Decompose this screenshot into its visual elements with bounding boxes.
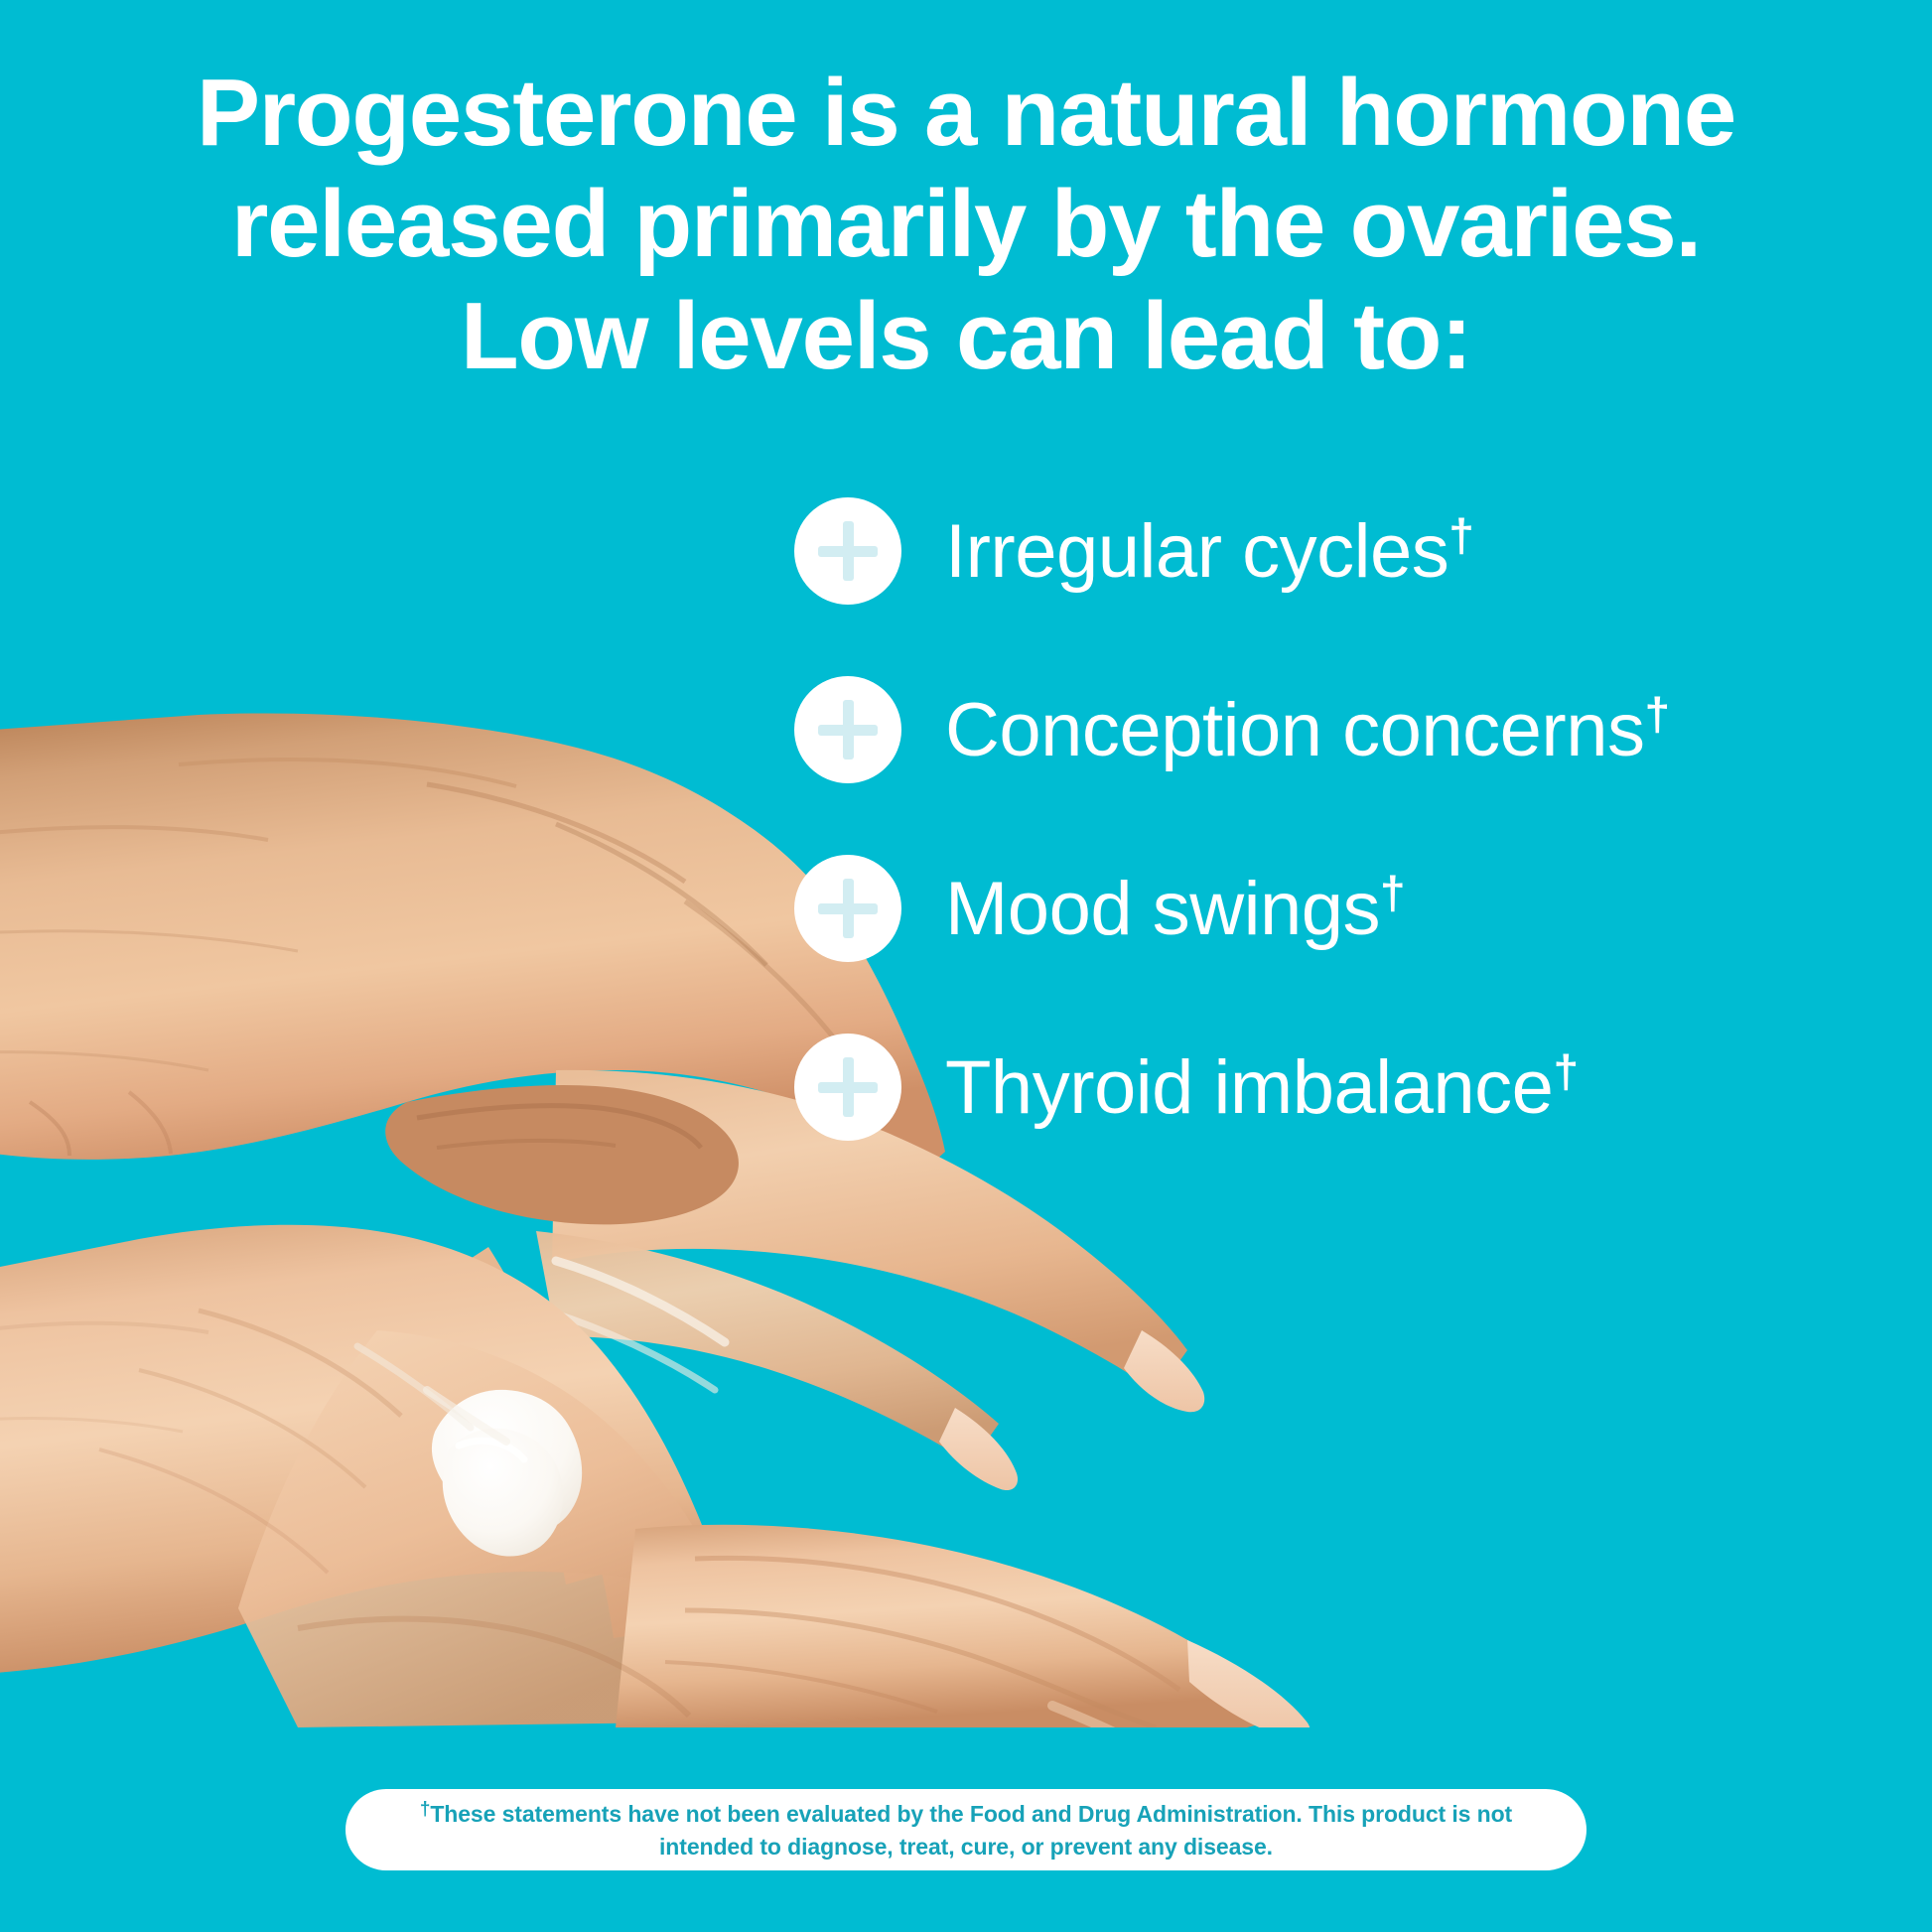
disclaimer-line-1: These statements have not been evaluated… (430, 1801, 1512, 1827)
promo-graphic: Progesterone is a natural hormone releas… (0, 0, 1932, 1932)
footnote-marker: † (1644, 688, 1669, 740)
list-item-label-wrapper: Thyroid imbalance† (945, 1048, 1579, 1126)
list-item-label: Conception concerns (945, 688, 1644, 772)
list-item: Conception concerns† (794, 675, 1932, 784)
footnote-marker: † (1449, 509, 1473, 561)
list-item-label: Thyroid imbalance (945, 1045, 1553, 1130)
list-item-label-wrapper: Conception concerns† (945, 691, 1670, 768)
headline-line-1: Progesterone is a natural hormone (60, 58, 1872, 169)
page-title: Progesterone is a natural hormone releas… (0, 58, 1932, 392)
lower-hand (0, 1225, 1311, 1727)
plus-icon-vertical-bar (843, 1057, 854, 1117)
plus-icon (794, 497, 901, 605)
list-item-label: Mood swings (945, 867, 1380, 951)
plus-icon (794, 676, 901, 783)
list-item-label: Irregular cycles (945, 509, 1449, 594)
footnote-marker: † (1380, 867, 1405, 918)
disclaimer-footnote-marker: † (420, 1799, 430, 1820)
plus-icon-vertical-bar (843, 521, 854, 581)
plus-icon (794, 1034, 901, 1141)
headline-line-2: released primarily by the ovaries. (60, 169, 1872, 280)
plus-icon (794, 855, 901, 962)
disclaimer-banner: †These statements have not been evaluate… (345, 1789, 1587, 1870)
list-item-label-wrapper: Irregular cycles† (945, 512, 1473, 590)
list-item: Thyroid imbalance† (794, 1033, 1932, 1142)
list-item: Mood swings† (794, 854, 1932, 963)
list-item: Irregular cycles† (794, 496, 1932, 606)
plus-icon-vertical-bar (843, 700, 854, 759)
disclaimer-text: †These statements have not been evaluate… (380, 1797, 1552, 1863)
disclaimer-line-2: intended to diagnose, treat, cure, or pr… (659, 1834, 1273, 1860)
list-item-label-wrapper: Mood swings† (945, 870, 1405, 947)
symptom-list: Irregular cycles† Conception concerns† M… (794, 496, 1932, 1211)
plus-icon-vertical-bar (843, 879, 854, 938)
footnote-marker: † (1553, 1045, 1578, 1097)
headline-line-3: Low levels can lead to: (60, 281, 1872, 392)
